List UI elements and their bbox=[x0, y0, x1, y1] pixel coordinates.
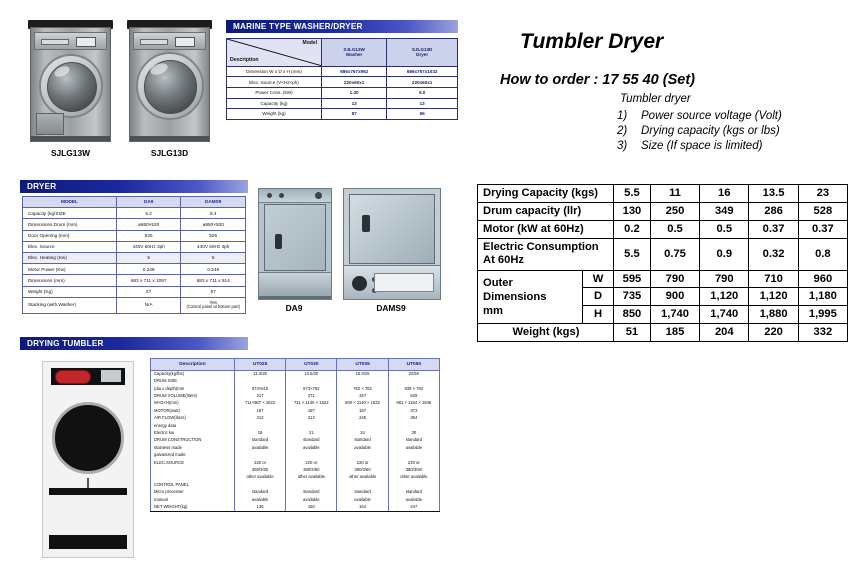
tumbler-col-header-1: UT025 bbox=[234, 359, 285, 371]
spec-val-motor-1: 0.2 bbox=[614, 220, 651, 238]
table-row: DRUM VOLUME(liters)217271347529 bbox=[151, 393, 440, 400]
tumbler-row-label-13 bbox=[151, 467, 235, 474]
dryer-cell-value-0-0: 6.2 bbox=[119, 211, 179, 216]
dryer-cell-4-0: 5 bbox=[116, 252, 181, 263]
dryer-cell-value-6-1: 683 x 711 x 914 bbox=[183, 278, 243, 283]
spec-val-dc-5: 23 bbox=[798, 185, 847, 203]
table-row: NET WEIGHT(kg)136150164247 bbox=[151, 504, 440, 512]
spec-val-wt-4: 220 bbox=[749, 324, 798, 342]
spec-val-drum-1: 130 bbox=[614, 202, 651, 220]
marine-cell-4-0: 87 bbox=[322, 109, 387, 120]
tumbler-cell-13-3: 380/3/60 bbox=[388, 467, 439, 474]
marine-cell-3-1: 13 bbox=[387, 98, 458, 109]
dryer-cell-value-1-1: ø650×520 bbox=[183, 222, 243, 227]
spec-val-wt-2: 185 bbox=[650, 324, 699, 342]
tumbler-cell-13-2: 380/3/60 bbox=[337, 467, 388, 474]
tumbler-cell-7-1 bbox=[286, 422, 337, 429]
marine-col-type-1: Washer bbox=[323, 52, 385, 57]
order-subtitle: Tumbler dryer bbox=[620, 93, 691, 105]
dryer-cell-4-1: 5 bbox=[181, 252, 246, 263]
tumbler-cell-4-0: 711×987 × 1622 bbox=[234, 400, 285, 407]
spec-label-outer-l3: mm bbox=[483, 304, 578, 318]
tumbler-cell-1-0 bbox=[234, 378, 285, 385]
spec-val-ec-3: 0.9 bbox=[700, 238, 749, 270]
spec-val-d-3: 1,120 bbox=[700, 288, 749, 306]
tumbler-cell-12-2: 220 or bbox=[337, 459, 388, 466]
order-option-1-num: 1) bbox=[617, 110, 641, 122]
spec-val-h-1: 850 bbox=[614, 306, 651, 324]
dryer-cell-value-2-0: 525 bbox=[119, 233, 179, 238]
dryer-illustration bbox=[127, 20, 212, 142]
table-row: Capacity(kg/lbs)11.3/2513.6/3015.9/2522/… bbox=[151, 370, 440, 378]
spec-val-w-1: 595 bbox=[614, 270, 651, 288]
table-row: Micro processerstandardstandardstandards… bbox=[151, 489, 440, 496]
tumbler-row-label-11: galvanized made bbox=[151, 452, 235, 459]
tumbler-row-label-18: NET WEIGHT(kg) bbox=[151, 504, 235, 512]
table-row: Power Cons. (kW)1.305.0 bbox=[227, 87, 458, 98]
dryer-banner: DRYER bbox=[20, 180, 248, 193]
dryer-cell-0-1: 8.4 bbox=[181, 208, 246, 219]
tumbler-photo bbox=[42, 361, 134, 558]
tumbler-cell-8-0: 18 bbox=[234, 430, 285, 437]
dryer-cell-8-0: N/A bbox=[116, 297, 181, 313]
dryer-cell-2-1: 525 bbox=[181, 230, 246, 241]
marine-row-label-4: Weight (kg) bbox=[227, 109, 322, 120]
dams9-photo bbox=[343, 188, 441, 300]
table-row: ELEC.SOURCE220 or220 or220 or220 or bbox=[151, 459, 440, 466]
order-option-2-text: Drying capacity (kgs or lbs) bbox=[641, 125, 780, 137]
marine-corner-cell: Model Description bbox=[227, 39, 322, 67]
tumbler-cell-7-3 bbox=[388, 422, 439, 429]
spec-label-outer-l2: Dimensions bbox=[483, 290, 578, 304]
tumbler-cell-8-3: 30 bbox=[388, 430, 439, 437]
tumbler-cell-0-0: 11.3/25 bbox=[234, 370, 285, 378]
order-option-3: 3) Size (If space is limited) bbox=[617, 140, 857, 152]
tumbler-cell-15-1 bbox=[286, 481, 337, 488]
tumbler-row-label-10: stainless made bbox=[151, 444, 235, 451]
marine-col-label: Model bbox=[303, 41, 317, 47]
tumbler-cell-0-2: 15.9/25 bbox=[337, 370, 388, 378]
dryer-row-label-2: Door Opening (mm) bbox=[23, 230, 117, 241]
dryer-table: MODEL DA9 DAMS9 Capacity (kg/SIZE6.28.4D… bbox=[22, 196, 246, 314]
dryer-cell-5-1: 0.249 bbox=[181, 264, 246, 275]
tumbler-row-label-7: energy data bbox=[151, 422, 235, 429]
dryer-cell-value-7-1: 57 bbox=[183, 289, 243, 294]
tumbler-cell-12-1: 220 or bbox=[286, 459, 337, 466]
tumbler-cell-5-2: 187 bbox=[337, 408, 388, 415]
spec-val-drum-5: 528 bbox=[798, 202, 847, 220]
tumbler-row-label-14 bbox=[151, 474, 235, 481]
tumbler-cell-2-2: 762 × 762 bbox=[337, 385, 388, 392]
tumbler-cell-7-0 bbox=[234, 422, 285, 429]
spec-val-wt-5: 332 bbox=[798, 324, 847, 342]
tumbler-cell-5-3: 373 bbox=[388, 408, 439, 415]
spec-row-outer-w: Outer Dimensions mm W 595 790 790 710 96… bbox=[478, 270, 848, 288]
dryer-cell-0-0: 6.2 bbox=[116, 208, 181, 219]
tumbler-cell-3-0: 217 bbox=[234, 393, 285, 400]
tumbler-cell-2-1: 673×762 bbox=[286, 385, 337, 392]
table-row: Door Opening (mm)525525 bbox=[23, 230, 246, 241]
tumbler-row-label-12: ELEC.SOURCE bbox=[151, 459, 235, 466]
spec-axis-d: D bbox=[583, 288, 614, 306]
spec-val-d-4: 1,120 bbox=[749, 288, 798, 306]
tumbler-cell-11-3 bbox=[388, 452, 439, 459]
marine-cell-0-0: 686x767x962 bbox=[322, 66, 387, 77]
marine-cell-1-1: 220x60x1 bbox=[387, 77, 458, 88]
table-row: Stacking (with Washer)N/AYes(Control pan… bbox=[23, 297, 246, 313]
order-option-2: 2) Drying capacity (kgs or lbs) bbox=[617, 125, 857, 137]
spec-axis-w: W bbox=[583, 270, 614, 288]
tumbler-cell-14-0: other available bbox=[234, 474, 285, 481]
dryer-col-header-0: MODEL bbox=[23, 197, 117, 208]
tumbler-cell-3-1: 271 bbox=[286, 393, 337, 400]
marine-row-label: Description bbox=[230, 58, 259, 64]
marine-row-label-2: Power Cons. (kW) bbox=[227, 87, 322, 98]
tumbler-cell-12-3: 220 or bbox=[388, 459, 439, 466]
table-row: galvanized made bbox=[151, 452, 440, 459]
tumbler-cell-9-2: standard bbox=[337, 437, 388, 444]
tumbler-cell-0-3: 22/50 bbox=[388, 370, 439, 378]
table-row: CONTROL PANEL bbox=[151, 481, 440, 488]
order-option-3-num: 3) bbox=[617, 140, 641, 152]
spec-label-electric-l1: Electric Consumption bbox=[483, 241, 609, 254]
tumbler-cell-11-0 bbox=[234, 452, 285, 459]
dams9-illustration bbox=[343, 188, 441, 300]
tumbler-cell-1-2 bbox=[337, 378, 388, 385]
marine-col-header-2: SJLG13D Dryer bbox=[387, 39, 458, 67]
spec-val-drum-3: 349 bbox=[700, 202, 749, 220]
table-row: W×D×H(mm)711×987 × 1622711 × 1140 × 1622… bbox=[151, 400, 440, 407]
spec-val-drum-2: 250 bbox=[650, 202, 699, 220]
spec-val-ec-5: 0.8 bbox=[798, 238, 847, 270]
dryer-cell-6-1: 683 x 711 x 914 bbox=[181, 275, 246, 286]
spec-val-wt-1: 51 bbox=[614, 324, 651, 342]
tumbler-cell-1-3 bbox=[388, 378, 439, 385]
spec-table: Drying Capacity (kgs) 5.5 11 16 13.5 23 … bbox=[477, 184, 848, 342]
tumbler-row-label-2: (dia x depth)mm bbox=[151, 385, 235, 392]
dryer-row-label-0: Capacity (kg/SIZE bbox=[23, 208, 117, 219]
table-row: Capacity (kg)1313 bbox=[227, 98, 458, 109]
table-row: Elec. Source (V×Hz×ph)220x60x1220x60x1 bbox=[227, 77, 458, 88]
dryer-cell-value-2-1: 525 bbox=[183, 233, 243, 238]
tumbler-cell-10-3: available bbox=[388, 444, 439, 451]
spec-label-weight: Weight (kgs) bbox=[478, 324, 614, 342]
dryer-cell-3-1: 440V 60Hz 3ph bbox=[181, 241, 246, 252]
dryer-cell-8-1: Yes(Control panel at bottom part) bbox=[181, 297, 246, 313]
spec-row-electric-consumption: Electric Consumption At 60Hz 5.5 0.75 0.… bbox=[478, 238, 848, 270]
tumbler-cell-6-1: 212 bbox=[286, 415, 337, 422]
tumbler-cell-5-1: 187 bbox=[286, 408, 337, 415]
tumbler-cell-3-2: 347 bbox=[337, 393, 388, 400]
table-row: 380/3/60380/3/60380/3/60380/3/60 bbox=[151, 467, 440, 474]
tumbler-cell-0-1: 13.6/30 bbox=[286, 370, 337, 378]
spec-label-motor: Motor (kW at 60Hz) bbox=[478, 220, 614, 238]
da9-caption: DA9 bbox=[258, 303, 330, 313]
tumbler-row-label-8: Electric kw bbox=[151, 430, 235, 437]
table-row: other availableother availableother avai… bbox=[151, 474, 440, 481]
dryer-col-header-1: DA9 bbox=[116, 197, 181, 208]
spec-label-outer-dimensions: Outer Dimensions mm bbox=[478, 270, 583, 324]
tumbler-cell-6-2: 245 bbox=[337, 415, 388, 422]
tumbler-cell-14-3: other available bbox=[388, 474, 439, 481]
dryer-col-header-2: DAMS9 bbox=[181, 197, 246, 208]
tumbler-col-header-3: UT035 bbox=[337, 359, 388, 371]
dryer-cell-value-3-0: 440V 60Hz 3ph bbox=[119, 244, 179, 249]
spec-row-motor: Motor (kW at 60Hz) 0.2 0.5 0.5 0.37 0.37 bbox=[478, 220, 848, 238]
table-row: Dimension W x D x H (mm)686x767x962686x7… bbox=[227, 66, 458, 77]
dryer-cell-1-1: ø650×520 bbox=[181, 219, 246, 230]
tumbler-cell-7-2 bbox=[337, 422, 388, 429]
da9-illustration bbox=[258, 188, 332, 300]
dryer-row-label-8: Stacking (with Washer) bbox=[23, 297, 117, 313]
tumbler-cell-14-1: other available bbox=[286, 474, 337, 481]
tumbler-cell-17-1: available bbox=[286, 496, 337, 503]
marine-banner: MARINE TYPE WASHER/DRYER bbox=[226, 20, 458, 33]
table-row: AIR FLOW(liters)212212245354 bbox=[151, 415, 440, 422]
dryer-cell-value-7-0: 57 bbox=[119, 289, 179, 294]
marine-col-header-1: SJLG13W Washer bbox=[322, 39, 387, 67]
washer-caption: SJLG13W bbox=[28, 148, 113, 158]
page-title: Tumbler Dryer bbox=[520, 30, 663, 54]
tumbler-cell-1-1 bbox=[286, 378, 337, 385]
spec-axis-h: H bbox=[583, 306, 614, 324]
tumbler-cell-16-0: standard bbox=[234, 489, 285, 496]
table-row: Weight (kg)8765 bbox=[227, 109, 458, 120]
tumbler-cell-17-2: available bbox=[337, 496, 388, 503]
tumbler-row-label-17: manual bbox=[151, 496, 235, 503]
dryer-cell-note-8-1: (Control panel at bottom part) bbox=[183, 305, 243, 310]
dryer-row-label-1: Dimensions Drum (mm) bbox=[23, 219, 117, 230]
table-row: Elec. Heating (Kw)55 bbox=[23, 252, 246, 263]
tumbler-cell-4-1: 711 × 1140 × 1622 bbox=[286, 400, 337, 407]
spec-val-d-5: 1,180 bbox=[798, 288, 847, 306]
tumbler-cell-4-3: 961 × 1164 × 1946 bbox=[388, 400, 439, 407]
dryer-cell-2-0: 525 bbox=[116, 230, 181, 241]
spec-val-ec-2: 0.75 bbox=[650, 238, 699, 270]
marine-row-label-0: Dimension W x D x H (mm) bbox=[227, 66, 322, 77]
order-options: 1) Power source voltage (Volt) 2) Drying… bbox=[617, 110, 857, 152]
tumbler-table: DescriptionUT025UT030UT035UT050 Capacity… bbox=[150, 358, 440, 512]
table-row: DRUM SIZE bbox=[151, 378, 440, 385]
tumbler-cell-18-0: 136 bbox=[234, 504, 285, 512]
table-row: Weight (Kg)5757 bbox=[23, 286, 246, 297]
tumbler-col-header-4: UT050 bbox=[388, 359, 439, 371]
tumbler-cell-16-1: standard bbox=[286, 489, 337, 496]
dryer-photo bbox=[127, 20, 212, 142]
spec-val-w-3: 790 bbox=[700, 270, 749, 288]
tumbler-cell-18-1: 150 bbox=[286, 504, 337, 512]
marine-cell-2-0: 1.30 bbox=[322, 87, 387, 98]
spec-val-wt-3: 204 bbox=[700, 324, 749, 342]
dryer-cell-5-0: 0.249 bbox=[116, 264, 181, 275]
tumbler-banner: DRYING TUMBLER bbox=[20, 337, 248, 350]
table-row: DRUM CONSTRUCTIONstandardstandardstandar… bbox=[151, 437, 440, 444]
tumbler-cell-17-3: available bbox=[388, 496, 439, 503]
spec-val-d-2: 900 bbox=[650, 288, 699, 306]
spec-label-outer-l1: Outer bbox=[483, 276, 578, 290]
marine-row-label-3: Capacity (kg) bbox=[227, 98, 322, 109]
dryer-row-label-6: Dimensions (mm) bbox=[23, 275, 117, 286]
tumbler-row-label-6: AIR FLOW(liters) bbox=[151, 415, 235, 422]
table-row: Dimensions Drum (mm)ø650×520ø650×520 bbox=[23, 219, 246, 230]
spec-val-motor-3: 0.5 bbox=[700, 220, 749, 238]
spec-row-drying-capacity: Drying Capacity (kgs) 5.5 11 16 13.5 23 bbox=[478, 185, 848, 203]
table-row: Motor Power (Kw)0.2490.249 bbox=[23, 264, 246, 275]
tumbler-cell-18-2: 164 bbox=[337, 504, 388, 512]
tumbler-cell-15-0 bbox=[234, 481, 285, 488]
tumbler-cell-10-1: available bbox=[286, 444, 337, 451]
dryer-cell-value-0-1: 8.4 bbox=[183, 211, 243, 216]
tumbler-cell-16-3: standard bbox=[388, 489, 439, 496]
spec-row-weight: Weight (kgs) 51 185 204 220 332 bbox=[478, 324, 848, 342]
marine-table: Model Description SJLG13W Washer SJLG13D… bbox=[226, 38, 458, 120]
dryer-cell-value-6-0: 683 x 711 x 1097 bbox=[119, 278, 179, 283]
dryer-cell-1-0: ø650×520 bbox=[116, 219, 181, 230]
tumbler-cell-13-0: 380/3/60 bbox=[234, 467, 285, 474]
marine-cell-4-1: 65 bbox=[387, 109, 458, 120]
tumbler-cell-9-1: standard bbox=[286, 437, 337, 444]
dryer-cell-value-3-1: 440V 60Hz 3ph bbox=[183, 244, 243, 249]
spec-val-motor-2: 0.5 bbox=[650, 220, 699, 238]
dryer-row-label-5: Motor Power (Kw) bbox=[23, 264, 117, 275]
marine-row-label-1: Elec. Source (V×Hz×ph) bbox=[227, 77, 322, 88]
spec-label-drying-capacity: Drying Capacity (kgs) bbox=[478, 185, 614, 203]
tumbler-cell-6-0: 212 bbox=[234, 415, 285, 422]
dryer-cell-6-0: 683 x 711 x 1097 bbox=[116, 275, 181, 286]
tumbler-cell-14-2: other available bbox=[337, 474, 388, 481]
table-row: Capacity (kg/SIZE6.28.4 bbox=[23, 208, 246, 219]
order-option-1: 1) Power source voltage (Volt) bbox=[617, 110, 857, 122]
tumbler-cell-15-3 bbox=[388, 481, 439, 488]
table-row: MOTOR(watt)187187187373 bbox=[151, 408, 440, 415]
spec-val-motor-4: 0.37 bbox=[749, 220, 798, 238]
spec-val-ec-4: 0.32 bbox=[749, 238, 798, 270]
dryer-row-label-7: Weight (Kg) bbox=[23, 286, 117, 297]
table-row: (dia x depth)mm673×610673×762762 × 76293… bbox=[151, 385, 440, 392]
dryer-cell-7-0: 57 bbox=[116, 286, 181, 297]
spec-val-dc-4: 13.5 bbox=[749, 185, 798, 203]
tumbler-cell-17-0: available bbox=[234, 496, 285, 503]
tumbler-cell-16-2: standard bbox=[337, 489, 388, 496]
spec-val-ec-1: 5.5 bbox=[614, 238, 651, 270]
tumbler-banner-label: DRYING TUMBLER bbox=[27, 339, 104, 348]
tumbler-cell-10-0: available bbox=[234, 444, 285, 451]
tumbler-illustration bbox=[42, 361, 134, 558]
tumbler-col-header-0: Description bbox=[151, 359, 235, 371]
tumbler-cell-12-0: 220 or bbox=[234, 459, 285, 466]
tumbler-row-label-9: DRUM CONSTRUCTION bbox=[151, 437, 235, 444]
spec-label-electric-l2: At 60Hz bbox=[483, 254, 609, 267]
table-row: stainless madeavailableavailableavailabl… bbox=[151, 444, 440, 451]
spec-row-drum-capacity: Drum capacity (llr) 130 250 349 286 528 bbox=[478, 202, 848, 220]
tumbler-cell-9-0: standard bbox=[234, 437, 285, 444]
order-option-1-text: Power source voltage (Volt) bbox=[641, 110, 782, 122]
spec-val-h-2: 1,740 bbox=[650, 306, 699, 324]
tumbler-cell-6-3: 354 bbox=[388, 415, 439, 422]
tumbler-row-label-3: DRUM VOLUME(liters) bbox=[151, 393, 235, 400]
spec-val-h-3: 1,740 bbox=[700, 306, 749, 324]
table-row: Electric kw18212430 bbox=[151, 430, 440, 437]
da9-photo bbox=[258, 188, 332, 300]
tumbler-row-label-4: W×D×H(mm) bbox=[151, 400, 235, 407]
spec-val-w-4: 710 bbox=[749, 270, 798, 288]
tumbler-cell-5-0: 187 bbox=[234, 408, 285, 415]
spec-label-electric: Electric Consumption At 60Hz bbox=[478, 238, 614, 270]
spec-label-drum-capacity: Drum capacity (llr) bbox=[478, 202, 614, 220]
dryer-caption: SJLG13D bbox=[127, 148, 212, 158]
tumbler-row-label-1: DRUM SIZE bbox=[151, 378, 235, 385]
tumbler-cell-11-2 bbox=[337, 452, 388, 459]
marine-cell-3-0: 13 bbox=[322, 98, 387, 109]
table-row: manualavailableavailableavailableavailab… bbox=[151, 496, 440, 503]
tumbler-cell-2-3: 936 × 762 bbox=[388, 385, 439, 392]
how-to-order-line: How to order : 17 55 40 (Set) bbox=[500, 72, 695, 88]
tumbler-col-header-2: UT030 bbox=[286, 359, 337, 371]
order-option-2-num: 2) bbox=[617, 125, 641, 137]
dryer-cell-value-4-0: 5 bbox=[119, 255, 179, 260]
spec-val-h-5: 1,995 bbox=[798, 306, 847, 324]
spec-val-w-2: 790 bbox=[650, 270, 699, 288]
dryer-cell-value-4-1: 5 bbox=[183, 255, 243, 260]
tumbler-cell-15-2 bbox=[337, 481, 388, 488]
tumbler-cell-2-0: 673×610 bbox=[234, 385, 285, 392]
tumbler-cell-3-3: 529 bbox=[388, 393, 439, 400]
dryer-row-label-4: Elec. Heating (Kw) bbox=[23, 252, 117, 263]
tumbler-cell-8-1: 21 bbox=[286, 430, 337, 437]
dryer-cell-value-5-0: 0.249 bbox=[119, 267, 179, 272]
dryer-cell-7-1: 57 bbox=[181, 286, 246, 297]
dryer-cell-value-1-0: ø650×520 bbox=[119, 222, 179, 227]
dams9-caption: DAMS9 bbox=[343, 303, 439, 313]
tumbler-cell-9-3: standard bbox=[388, 437, 439, 444]
dryer-row-label-3: Elec. Source bbox=[23, 241, 117, 252]
spec-val-w-5: 960 bbox=[798, 270, 847, 288]
tumbler-cell-10-2: available bbox=[337, 444, 388, 451]
tumbler-cell-11-1 bbox=[286, 452, 337, 459]
spec-val-h-4: 1,880 bbox=[749, 306, 798, 324]
spec-val-dc-1: 5.5 bbox=[614, 185, 651, 203]
dryer-cell-3-0: 440V 60Hz 3ph bbox=[116, 241, 181, 252]
washer-photo bbox=[28, 20, 113, 142]
tumbler-cell-18-3: 247 bbox=[388, 504, 439, 512]
marine-col-type-2: Dryer bbox=[388, 52, 456, 57]
spec-val-d-1: 735 bbox=[614, 288, 651, 306]
dryer-cell-value-5-1: 0.249 bbox=[183, 267, 243, 272]
tumbler-row-label-0: Capacity(kg/lbs) bbox=[151, 370, 235, 378]
marine-cell-0-1: 686x767x1032 bbox=[387, 66, 458, 77]
washer-illustration bbox=[28, 20, 113, 142]
tumbler-row-label-5: MOTOR(watt) bbox=[151, 408, 235, 415]
marine-banner-label: MARINE TYPE WASHER/DRYER bbox=[233, 22, 363, 31]
tumbler-cell-8-2: 24 bbox=[337, 430, 388, 437]
marine-cell-1-0: 220x60x1 bbox=[322, 77, 387, 88]
spec-val-dc-3: 16 bbox=[700, 185, 749, 203]
dryer-cell-value-8-0: N/A bbox=[119, 302, 179, 307]
tumbler-cell-13-1: 380/3/60 bbox=[286, 467, 337, 474]
spec-val-dc-2: 11 bbox=[650, 185, 699, 203]
spec-val-motor-5: 0.37 bbox=[798, 220, 847, 238]
marine-cell-2-1: 5.0 bbox=[387, 87, 458, 98]
order-option-3-text: Size (If space is limited) bbox=[641, 140, 762, 152]
table-row: energy data bbox=[151, 422, 440, 429]
tumbler-cell-4-2: 800 × 1140 × 1622 bbox=[337, 400, 388, 407]
table-row: Elec. Source440V 60Hz 3ph440V 60Hz 3ph bbox=[23, 241, 246, 252]
spec-val-drum-4: 286 bbox=[749, 202, 798, 220]
table-row: Dimensions (mm)683 x 711 x 1097683 x 711… bbox=[23, 275, 246, 286]
dryer-banner-label: DRYER bbox=[27, 182, 56, 191]
tumbler-row-label-16: Micro processer bbox=[151, 489, 235, 496]
tumbler-row-label-15: CONTROL PANEL bbox=[151, 481, 235, 488]
